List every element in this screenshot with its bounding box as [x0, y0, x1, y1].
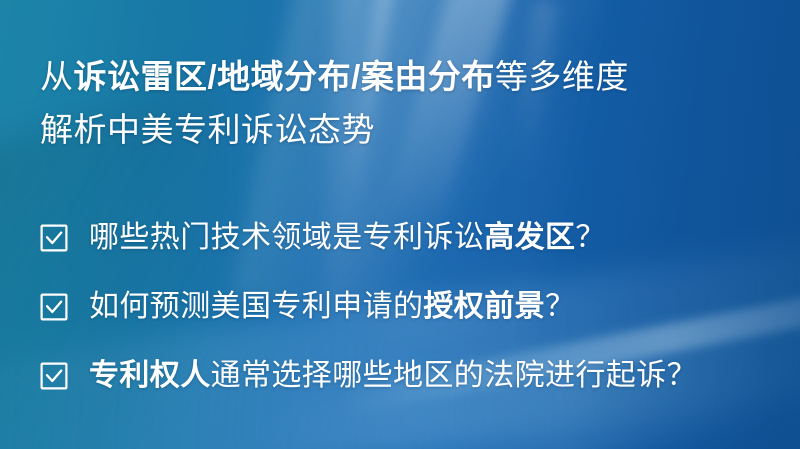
title-seg-1a: 从: [40, 58, 74, 95]
checkbox-checked-icon: [40, 224, 68, 252]
question-list: 哪些热门技术领域是专利诉讼高发区？ 如何预测美国专利申请的授权前景？: [40, 215, 780, 398]
bullet-2-seg-a: 如何预测美国专利申请的: [89, 290, 423, 323]
list-item-label: 如何预测美国专利申请的授权前景？: [89, 290, 575, 324]
list-item-label: 哪些热门技术领域是专利诉讼高发区？: [89, 221, 606, 255]
checkbox-checked-icon: [40, 293, 68, 321]
title-seg-1c: 等多维度: [495, 58, 629, 95]
page-title: 从诉讼雷区/地域分布/案由分布等多维度 解析中美专利诉讼态势: [40, 50, 760, 156]
title-seg-1b: 诉讼雷区/地域分布/案由分布: [74, 58, 495, 95]
bullet-2-seg-b: 授权前景: [423, 290, 545, 323]
bullet-1-seg-b: 高发区: [484, 221, 575, 254]
bullet-1-seg-a: 哪些热门技术领域是专利诉讼: [89, 221, 484, 254]
list-item-label: 专利权人通常选择哪些地区的法院进行起诉？: [89, 359, 697, 393]
page-title-line-2: 解析中美专利诉讼态势: [40, 103, 760, 156]
bullet-2-seg-c: ？: [545, 290, 575, 323]
bullet-3-seg-b: 通常选择哪些地区的法院进行起诉？: [211, 359, 697, 392]
list-item: 专利权人通常选择哪些地区的法院进行起诉？: [40, 353, 780, 398]
poster-canvas: 从诉讼雷区/地域分布/案由分布等多维度 解析中美专利诉讼态势 哪些热门技术领域是…: [0, 0, 800, 449]
list-item: 哪些热门技术领域是专利诉讼高发区？: [40, 215, 780, 260]
checkbox-checked-icon: [40, 362, 68, 390]
list-item: 如何预测美国专利申请的授权前景？: [40, 284, 780, 329]
bullet-3-seg-a: 专利权人: [89, 359, 211, 392]
page-title-line-1: 从诉讼雷区/地域分布/案由分布等多维度: [40, 50, 760, 103]
title-seg-2a: 解析中美专利诉讼态势: [40, 111, 375, 148]
bullet-1-seg-c: ？: [575, 221, 605, 254]
